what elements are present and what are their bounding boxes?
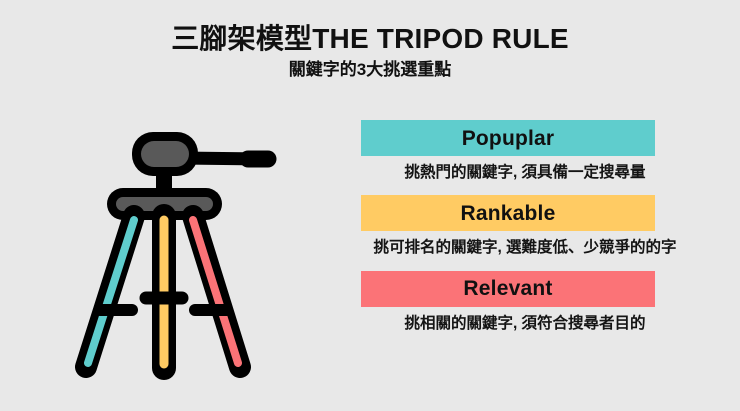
criteria-description-popular: 挑熱門的關鍵字, 須具備一定搜尋量 [330,163,720,182]
tripod-leg-right [193,216,240,367]
page-title: 三腳架模型THE TRIPOD RULE [0,22,740,55]
tripod-leg-left [86,216,134,367]
criteria-description-relevant: 挑相關的關鍵字, 須符合搜尋者目的 [330,314,720,333]
criteria-label-rankable: Rankable [461,203,556,224]
tripod-leg-center [146,216,182,368]
tripod-head-icon [132,132,198,176]
header: 三腳架模型THE TRIPOD RULE 關鍵字的3大挑選重點 [0,22,740,80]
criteria-block-relevant: Relevant 挑相關的關鍵字, 須符合搜尋者目的 [330,271,720,333]
criteria-bar-rankable: Rankable [361,195,655,231]
criteria-description-rankable: 挑可排名的關鍵字, 選難度低、少競爭的的字 [330,238,720,257]
criteria-label-relevant: Relevant [463,278,552,299]
infographic-canvas: 三腳架模型THE TRIPOD RULE 關鍵字的3大挑選重點 [0,0,740,411]
tripod-graphic [62,112,312,384]
criteria-block-list: Popuplar 挑熱門的關鍵字, 須具備一定搜尋量 Rankable 挑可排名… [330,120,720,346]
tripod-illustration [62,112,312,384]
page-subtitle: 關鍵字的3大挑選重點 [0,60,740,80]
criteria-bar-relevant: Relevant [361,271,655,307]
criteria-label-popular: Popuplar [462,128,555,149]
criteria-block-popular: Popuplar 挑熱門的關鍵字, 須具備一定搜尋量 [330,120,720,182]
criteria-bar-popular: Popuplar [361,120,655,156]
criteria-block-rankable: Rankable 挑可排名的關鍵字, 選難度低、少競爭的的字 [330,195,720,257]
